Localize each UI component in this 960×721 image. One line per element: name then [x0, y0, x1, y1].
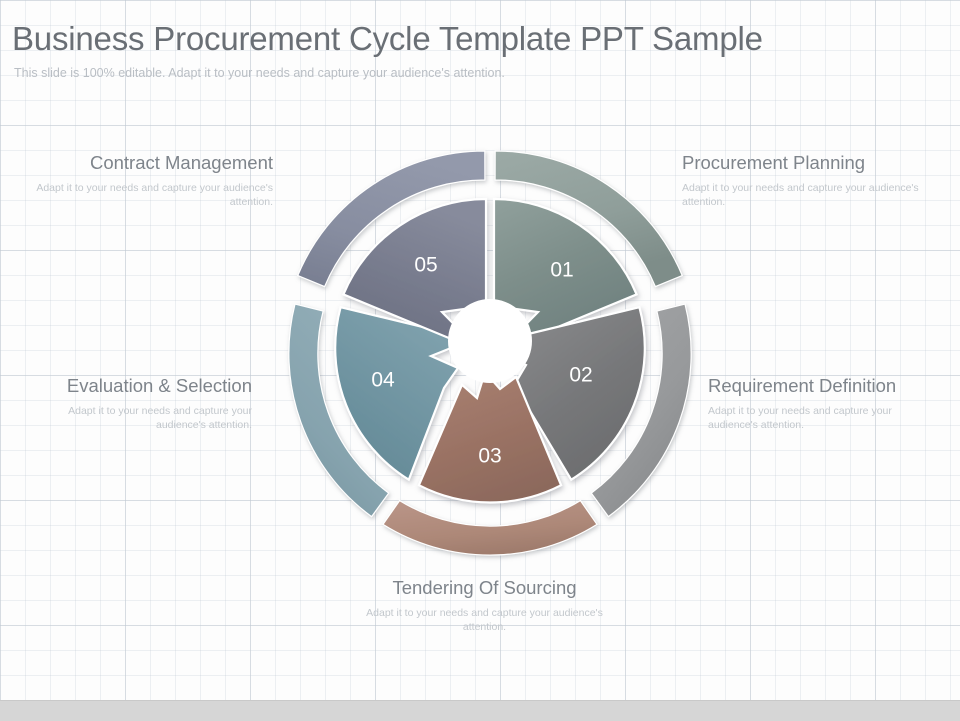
segment-number-04: 04: [371, 369, 395, 392]
label-desc-requirement-definition: Adapt it to your needs and capture your …: [708, 404, 938, 432]
label-desc-evaluation-selection: Adapt it to your needs and capture your …: [30, 404, 252, 432]
label-desc-tendering-sourcing: Adapt it to your needs and capture your …: [362, 606, 607, 634]
slide-footer-band: [0, 700, 960, 721]
label-title-procurement-planning: Procurement Planning: [682, 150, 927, 175]
segment-number-02: 02: [569, 364, 592, 387]
label-title-requirement-definition: Requirement Definition: [708, 373, 938, 398]
label-block-requirement-definition[interactable]: Requirement Definition Adapt it to your …: [708, 373, 938, 432]
segment-number-01: 01: [550, 259, 573, 282]
label-desc-contract-management: Adapt it to your needs and capture your …: [28, 181, 273, 209]
label-block-contract-management[interactable]: Contract Management Adapt it to your nee…: [28, 150, 273, 209]
page-title: Business Procurement Cycle Template PPT …: [12, 20, 763, 58]
label-title-tendering-sourcing: Tendering Of Sourcing: [362, 575, 607, 600]
label-block-procurement-planning[interactable]: Procurement Planning Adapt it to your ne…: [682, 150, 927, 209]
outer-ring-arc-03[interactable]: [383, 501, 597, 555]
label-block-tendering-sourcing[interactable]: Tendering Of Sourcing Adapt it to your n…: [362, 575, 607, 634]
label-title-contract-management: Contract Management: [28, 150, 273, 175]
label-desc-procurement-planning: Adapt it to your needs and capture your …: [682, 181, 927, 209]
center-hub-circle: [449, 300, 531, 382]
procurement-cycle-diagram: 01 02 03 04 05: [230, 118, 750, 588]
segment-number-05: 05: [414, 254, 437, 277]
cycle-wheel-graphic: 01 02 03 04 05: [230, 118, 750, 588]
label-block-evaluation-selection[interactable]: Evaluation & Selection Adapt it to your …: [30, 373, 252, 432]
page-subtitle: This slide is 100% editable. Adapt it to…: [14, 66, 505, 80]
segment-number-03: 03: [478, 445, 501, 468]
label-title-evaluation-selection: Evaluation & Selection: [30, 373, 252, 398]
